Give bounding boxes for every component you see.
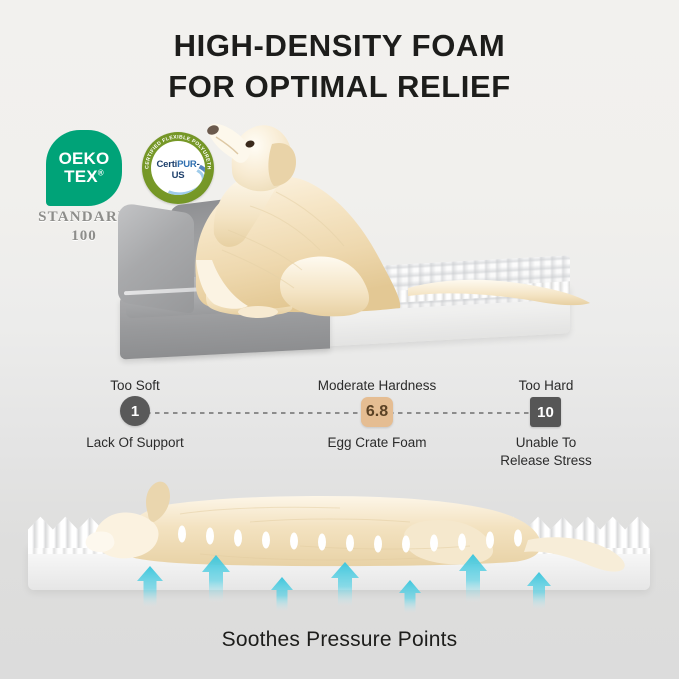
- arrow-icon-1: [137, 566, 163, 607]
- arrow-icon-6: [459, 554, 487, 602]
- scale-right-bottom-line-1: Unable To: [516, 435, 577, 450]
- page-title: HIGH-DENSITY FOAM FOR OPTIMAL RELIEF: [0, 26, 679, 108]
- scale-left-top-label: Too Soft: [55, 378, 215, 393]
- scale-marker-max: 10: [530, 397, 561, 427]
- arrow-icon-5: [399, 580, 421, 613]
- certipur-wordmark: CertiPUR-US: [151, 159, 205, 181]
- pressure-relief-arrows: [0, 462, 679, 622]
- scale-marker-min: 1: [120, 396, 150, 426]
- scale-marker-current: 6.8: [361, 397, 393, 427]
- scale-mid-bottom-label: Egg Crate Foam: [297, 434, 457, 452]
- headline-line-2: FOR OPTIMAL RELIEF: [0, 67, 679, 108]
- arrow-icon-4: [331, 562, 359, 606]
- dog-illustration-sitting: [0, 110, 679, 370]
- arrow-icon-2: [202, 555, 230, 602]
- hardness-scale: Too Soft Moderate Hardness Too Hard 1 6.…: [0, 378, 679, 474]
- headline-line-1: HIGH-DENSITY FOAM: [0, 26, 679, 67]
- hero-product-image: [0, 110, 679, 370]
- infographic-root: HIGH-DENSITY FOAM FOR OPTIMAL RELIEF OEK…: [0, 0, 679, 679]
- hardness-scale-track: [146, 412, 538, 414]
- scale-left-bottom-label: Lack Of Support: [55, 434, 215, 452]
- pressure-points-illustration: [0, 462, 679, 622]
- bottom-caption: Soothes Pressure Points: [0, 628, 679, 652]
- arrow-icon-7: [527, 572, 551, 609]
- scale-mid-top-label: Moderate Hardness: [297, 378, 457, 393]
- arrow-icon-3: [271, 577, 293, 611]
- scale-right-top-label: Too Hard: [466, 378, 626, 393]
